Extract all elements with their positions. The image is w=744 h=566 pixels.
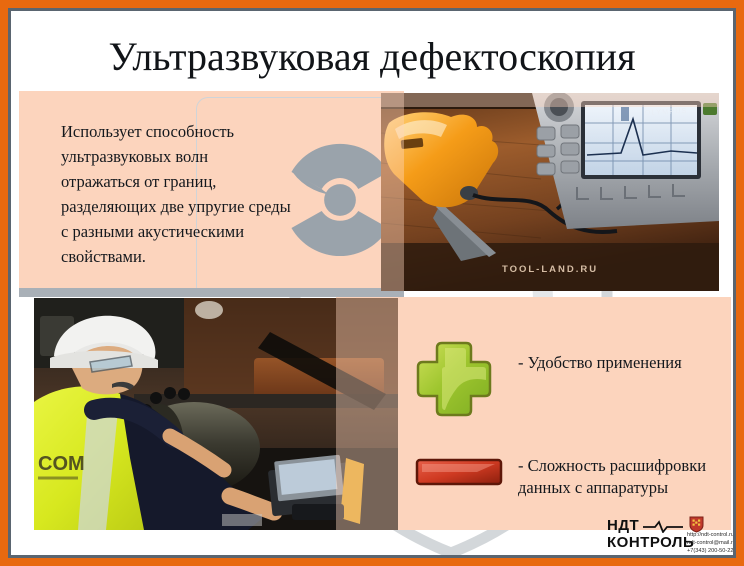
- panel-bottom-strip: [19, 288, 404, 297]
- intro-paragraph: Использует способность ультразвуковых во…: [61, 119, 291, 269]
- company-logo[interactable]: НДТ КОНТРОЛЬ http://ndt-control.ru ndt-c…: [607, 517, 736, 558]
- inspection-photo-art: COM: [34, 298, 398, 530]
- field-inspection-photo: COM: [34, 298, 398, 530]
- slide-canvas: Использует способность ультразвуковых во…: [8, 8, 736, 558]
- contact-email[interactable]: ndt-control@mail.ru: [687, 539, 736, 547]
- logo-contact-info: http://ndt-control.ru ndt-control@mail.r…: [687, 531, 736, 555]
- bullet-disadvantage-text: - Сложность расшифровки данных с аппарат…: [518, 455, 718, 499]
- page-title: Ультразвуковая дефектоскопия: [11, 33, 733, 80]
- bullet-advantage-text: - Удобство применения: [518, 352, 733, 374]
- svg-text:COM: COM: [38, 453, 85, 475]
- slide-outer-border: Использует способность ультразвуковых во…: [0, 0, 744, 566]
- waveform-icon: [643, 520, 683, 533]
- contact-website[interactable]: http://ndt-control.ru: [687, 531, 736, 539]
- green-plus-icon: [415, 340, 493, 418]
- red-minus-icon: [415, 458, 503, 486]
- ultrasonic-probe-photo: OLYMPUS: [381, 93, 719, 291]
- contact-phone: +7(343) 200-50-22: [687, 547, 736, 555]
- photo-watermark-text: TOOL-LAND.RU: [381, 264, 719, 275]
- logo-line-kontrol: КОНТРОЛЬ: [607, 534, 679, 551]
- probe-photo-art: OLYMPUS: [381, 93, 719, 291]
